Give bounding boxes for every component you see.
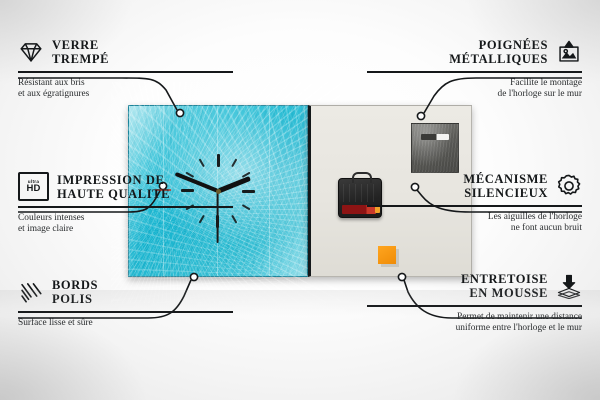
feature-description: Surface lisse et sûre [18, 318, 233, 330]
foam-spacer-icon [556, 273, 582, 299]
feature-title: POIGNÉESMÉTALLIQUES [449, 38, 548, 66]
feature-title: BORDSPOLIS [52, 278, 98, 306]
feature-title: VERRETREMPÉ [52, 38, 109, 66]
divider [18, 206, 233, 208]
metal-hanger-plate [411, 123, 459, 173]
divider [367, 205, 582, 207]
feature-description: Permet de maintenir une distance uniform… [367, 312, 582, 335]
feature-title: IMPRESSION DEHAUTE QUALITÉ [57, 173, 170, 201]
feature-description: Couleurs intenses et image claire [18, 213, 233, 236]
feature-description: Facilite le montage de l'horloge sur le … [367, 78, 582, 101]
feature-mecanisme-silencieux[interactable]: MÉCANISMESILENCIEUX Les aiguilles de l'h… [367, 172, 582, 235]
divider [18, 311, 233, 313]
ultra-hd-icon: ultra HD [18, 172, 49, 201]
feature-impression-haute-qualite[interactable]: ultra HD IMPRESSION DEHAUTE QUALITÉ Coul… [18, 172, 233, 236]
divider [18, 71, 233, 73]
diamond-icon [18, 39, 44, 65]
picture-hanger-icon [556, 39, 582, 65]
feature-title: ENTRETOISEEN MOUSSE [461, 272, 548, 300]
feature-description: Résistant aux bris et aux égratignures [18, 78, 233, 101]
divider [367, 71, 582, 73]
ultra-hd-label-main: HD [26, 184, 40, 194]
divider [367, 305, 582, 307]
infographic-canvas: VERRETREMPÉ Résistant aux bris et aux ég… [0, 0, 600, 400]
feature-verre-trempe[interactable]: VERRETREMPÉ Résistant aux bris et aux ég… [18, 38, 233, 101]
gear-icon [556, 173, 582, 199]
polished-edges-icon [18, 279, 44, 305]
hanger-slot [421, 134, 449, 140]
feature-description: Les aiguilles de l'horloge ne font aucun… [367, 212, 582, 235]
foam-spacer [378, 246, 396, 264]
feature-poignees-metalliques[interactable]: POIGNÉESMÉTALLIQUES Facilite le montage … [367, 38, 582, 101]
feature-entretoise-en-mousse[interactable]: ENTRETOISEEN MOUSSE Permet de maintenir … [367, 272, 582, 335]
feature-title: MÉCANISMESILENCIEUX [463, 172, 548, 200]
feature-bords-polis[interactable]: BORDSPOLIS Surface lisse et sûre [18, 278, 233, 329]
